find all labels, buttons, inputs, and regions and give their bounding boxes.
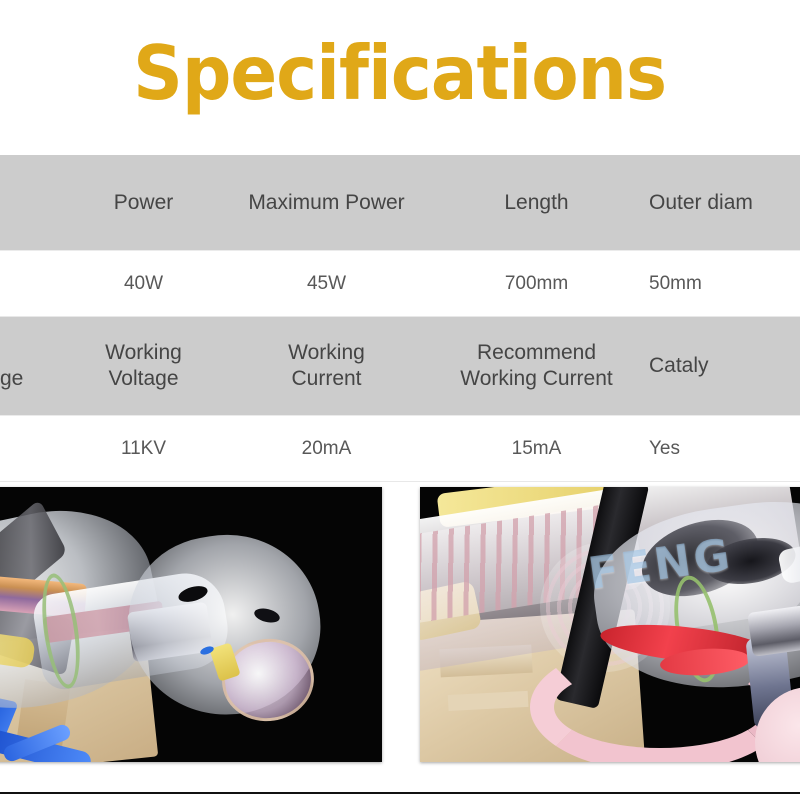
table-header-cell-working-voltage: Working Voltage [62, 317, 225, 416]
table-cell-ignition-voltage-value: V [0, 416, 62, 482]
table-cell-model-value [0, 251, 62, 317]
table-header-cell-ignition-voltage: on ge [0, 317, 62, 416]
table-header-cell-outer-diameter: Outer diam [645, 155, 800, 251]
page-title: Specifications [134, 36, 667, 119]
table-cell-recommend-working-current-value: 15mA [428, 416, 645, 482]
table-cell-outer-diameter-value: 50mm [645, 251, 800, 317]
table-header-cell-power: Power [62, 155, 225, 251]
product-photo-left [0, 487, 382, 762]
bottom-spacer [0, 768, 800, 800]
table-header-row-2: on ge Working Voltage Working Current Re… [0, 317, 800, 416]
table-header-cell-model: el [0, 155, 62, 251]
metal-electrode [747, 605, 800, 657]
product-photo-right: FENG [420, 487, 800, 762]
table-header-cell-length: Length [428, 155, 645, 251]
table-row-2: V 11KV 20mA 15mA Yes [0, 416, 800, 482]
photo-scene-left [0, 487, 382, 762]
table-header-cell-recommend-working-current: Recommend Working Current [428, 317, 645, 416]
table-cell-working-current-value: 20mA [225, 416, 428, 482]
photo-scene-right: FENG [420, 487, 800, 762]
table-header-cell-catalyst: Cataly [645, 317, 800, 416]
page-header: Specifications [0, 0, 800, 155]
table-cell-maximum-power-value: 45W [225, 251, 428, 317]
table-cell-length-value: 700mm [428, 251, 645, 317]
table-header-cell-working-current: Working Current [225, 317, 428, 416]
product-photo-gallery: FENG [0, 482, 800, 772]
table-cell-power-value: 40W [62, 251, 225, 317]
table-header-row-1: el Power Maximum Power Length Outer diam [0, 155, 800, 251]
table-cell-working-voltage-value: 11KV [62, 416, 225, 482]
table-cell-catalyst-value: Yes [645, 416, 800, 482]
table-row-1: 40W 45W 700mm 50mm [0, 251, 800, 317]
specifications-table: el Power Maximum Power Length Outer diam… [0, 155, 800, 482]
table-header-cell-maximum-power: Maximum Power [225, 155, 428, 251]
bottom-divider [0, 792, 800, 794]
